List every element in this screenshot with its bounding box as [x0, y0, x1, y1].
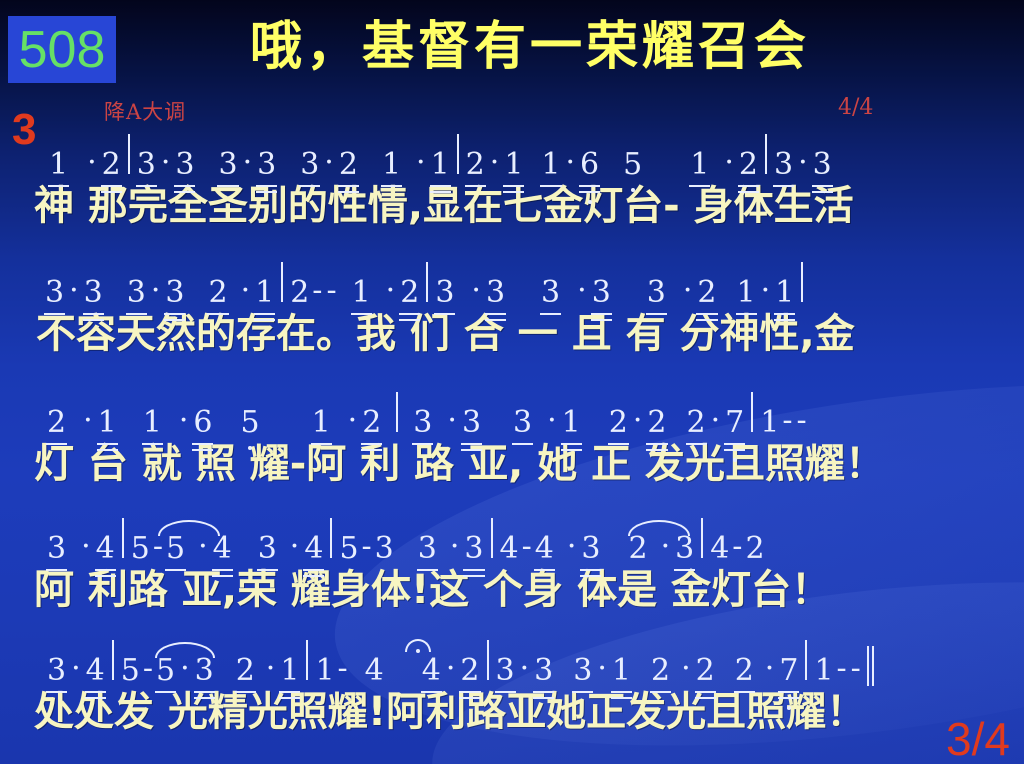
lyrics-row-3: 灯 台 就 照 耀-阿 利 路 亚, 她 正 发光且照耀！: [0, 438, 1024, 490]
note: 3: [572, 656, 593, 686]
note: 1: [813, 656, 834, 686]
key-signature-label: 降A大调: [104, 96, 186, 126]
duration-dash: -: [794, 403, 808, 438]
note: 5: [155, 656, 176, 686]
note: 3: [646, 278, 667, 308]
lyrics-row-5: 处处发 光精光照耀!阿利路亚她正发光且照耀！: [0, 686, 1024, 738]
rhythm-dot: ·: [467, 273, 485, 308]
rhythm-dot: ·: [486, 145, 504, 180]
fermata-icon: [405, 639, 431, 652]
notation-row-4: 3 · 4 5 - 5 · 4 3 · 4 5 - 3 3 · 3 4 - 4 …: [0, 518, 1024, 564]
barline: [801, 262, 803, 302]
note: 1: [314, 656, 335, 686]
barline: [765, 134, 767, 174]
note-low-octave: 7: [724, 408, 745, 438]
note: 1: [381, 150, 402, 180]
note: 3: [417, 534, 438, 564]
barline: [306, 640, 308, 680]
note: 4: [303, 534, 324, 564]
rhythm-dot: ·: [516, 651, 534, 686]
barline: [487, 640, 489, 680]
rhythm-dot: ·: [562, 145, 580, 180]
barline: [122, 518, 124, 558]
rhythm-dot: ·: [286, 529, 304, 564]
note: 1: [736, 278, 757, 308]
tie-dash: -: [141, 651, 155, 686]
rhythm-dot: ·: [147, 273, 165, 308]
note: 1: [279, 656, 300, 686]
music-system-1: 1 · 2 3 · 3 3 · 3 3 · 2 1 · 1 2 · 1 1 ·: [0, 134, 1024, 232]
barline: [805, 640, 807, 680]
barline: [281, 262, 283, 302]
note: 2: [744, 534, 765, 564]
rhythm-dot: ·: [262, 651, 280, 686]
note: 3: [44, 278, 65, 308]
note: 3: [217, 150, 238, 180]
note: 2: [338, 150, 359, 180]
rhythm-dot: ·: [237, 273, 255, 308]
duration-dash: -: [324, 273, 338, 308]
rhythm-dot: ·: [443, 403, 461, 438]
note: 3: [773, 150, 794, 180]
note: 2: [686, 408, 707, 438]
notation-row-1: 1 · 2 3 · 3 3 · 3 3 · 2 1 · 1 2 · 1 1 ·: [0, 134, 1024, 180]
rhythm-dot: ·: [65, 273, 83, 308]
lyrics-row-2: 不容天然的存在。我 们 合 一 且 有 分神性,金: [0, 308, 1024, 360]
note: 2: [627, 534, 648, 564]
note: 3: [485, 278, 506, 308]
rhythm-dot: ·: [412, 145, 430, 180]
music-system-4: 3 · 4 5 - 5 · 4 3 · 4 5 - 3 3 · 3 4 - 4 …: [0, 518, 1024, 616]
note: 2: [608, 408, 629, 438]
music-system-3: 2 · 1 1 · 6 5 1 · 2 3 · 3 3 · 1 2 · 2: [0, 392, 1024, 490]
note: 3: [512, 408, 533, 438]
final-double-barline: [867, 646, 875, 686]
notation-row-2: 3 · 3 3 · 3 2 · 1 2 - - 1 · 2 3 · 3 3 ·: [0, 262, 1024, 308]
note: 3: [126, 278, 147, 308]
duration-dash: -: [360, 529, 374, 564]
rhythm-dot: ·: [157, 145, 175, 180]
note: 3: [256, 150, 277, 180]
note: 2: [46, 408, 67, 438]
note: 2: [734, 656, 755, 686]
duration-dash: -: [730, 529, 744, 564]
note: 3: [463, 534, 484, 564]
note: 1: [561, 408, 582, 438]
note: 4: [499, 534, 520, 564]
rhythm-dot: ·: [761, 651, 779, 686]
lyrics-row-4: 阿 利路 亚,荣 耀身体!这 个身 体是 金灯台！: [0, 564, 1024, 616]
note: 1: [540, 150, 561, 180]
note: 1: [774, 278, 795, 308]
note: 1: [48, 150, 69, 180]
rhythm-dot: ·: [77, 529, 95, 564]
note: 5: [120, 656, 141, 686]
note: 3: [257, 534, 278, 564]
rhythm-dot: ·: [563, 529, 581, 564]
duration-dash: -: [835, 651, 849, 686]
rhythm-dot: ·: [679, 273, 697, 308]
note: 1: [611, 656, 632, 686]
note: 1: [430, 150, 451, 180]
duration-dash: -: [780, 403, 794, 438]
notation-row-3: 2 · 1 1 · 6 5 1 · 2 3 · 3 3 · 1 2 · 2: [0, 392, 1024, 438]
rhythm-dot: ·: [382, 273, 400, 308]
lyrics-row-1: 神 那完全圣别的性情,显在七金灯台- 身体生活: [0, 180, 1024, 232]
duration-dash: -: [310, 273, 324, 308]
hymn-slide: 508 哦，基督有一荣耀召会 降A大调 4/4 3 3/4 1 · 2 3 · …: [0, 0, 1024, 764]
rhythm-dot: ·: [593, 651, 611, 686]
note: 2: [465, 150, 486, 180]
note: 1: [351, 278, 372, 308]
tie-dash: -: [520, 529, 534, 564]
note: 1: [759, 408, 780, 438]
barline: [426, 262, 428, 302]
note: 2: [459, 656, 480, 686]
note: 5: [130, 534, 151, 564]
note-low-octave: 7: [778, 656, 799, 686]
note: 3: [299, 150, 320, 180]
rhythm-dot: ·: [757, 273, 775, 308]
hymn-number: 508: [19, 24, 106, 76]
rhythm-dot: ·: [720, 145, 738, 180]
barline: [701, 518, 703, 558]
note: 4: [534, 534, 555, 564]
note: 2: [646, 408, 667, 438]
note: 1: [503, 150, 524, 180]
note: 3: [812, 150, 833, 180]
note: 3: [136, 150, 157, 180]
note: 3: [533, 656, 554, 686]
note: 4: [709, 534, 730, 564]
time-signature-label: 4/4: [838, 95, 873, 120]
note: 3: [674, 534, 695, 564]
note: 4: [95, 534, 116, 564]
rhythm-dot: ·: [794, 145, 812, 180]
note: 3: [374, 534, 395, 564]
rhythm-dot: ·: [175, 403, 193, 438]
note-low-octave: 5: [622, 150, 643, 180]
rhythm-dot: ·: [320, 145, 338, 180]
note: 3: [495, 656, 516, 686]
note: 5: [338, 534, 359, 564]
note: 2: [696, 278, 717, 308]
rhythm-dot: ·: [83, 145, 101, 180]
note: 3: [46, 534, 67, 564]
rhythm-dot: ·: [67, 651, 85, 686]
note-low-octave: 6: [192, 408, 213, 438]
music-system-5: 3 · 4 5 - 5 · 3 2 · 1 1 - 4 4 · 2 3 · 3: [0, 640, 1024, 738]
note: 1: [142, 408, 163, 438]
note: 1: [311, 408, 332, 438]
note: 2: [235, 656, 256, 686]
note: 2: [207, 278, 228, 308]
note: 2: [399, 278, 420, 308]
rhythm-dot: ·: [446, 529, 464, 564]
page-title: 哦，基督有一荣耀召会: [150, 20, 910, 75]
barline: [128, 134, 130, 174]
note: 1: [689, 150, 710, 180]
rhythm-dot: ·: [677, 651, 695, 686]
rhythm-dot: ·: [543, 403, 561, 438]
note: 3: [461, 408, 482, 438]
rhythm-dot: ·: [344, 403, 362, 438]
note: 4: [364, 656, 385, 686]
rhythm-dot: ·: [442, 651, 460, 686]
barline: [330, 518, 332, 558]
note: 1: [254, 278, 275, 308]
note: 2: [101, 150, 122, 180]
note: 2: [738, 150, 759, 180]
note-low-octave: 5: [239, 408, 260, 438]
barline: [457, 134, 459, 174]
rhythm-dot: ·: [79, 403, 97, 438]
notation-row-5: 3 · 4 5 - 5 · 3 2 · 1 1 - 4 4 · 2 3 · 3: [0, 640, 1024, 686]
hymn-number-badge: 508: [8, 16, 116, 83]
barline: [751, 392, 753, 432]
note: 3: [434, 278, 455, 308]
note-low-octave: 6: [579, 150, 600, 180]
note: 2: [695, 656, 716, 686]
note: 1: [97, 408, 118, 438]
note: 2: [361, 408, 382, 438]
note: 4: [212, 534, 233, 564]
note: 4: [421, 656, 442, 686]
barline: [396, 392, 398, 432]
music-system-2: 3 · 3 3 · 3 2 · 1 2 - - 1 · 2 3 · 3 3 ·: [0, 262, 1024, 360]
rhythm-dot: ·: [629, 403, 647, 438]
note: 3: [46, 656, 67, 686]
rhythm-dot: ·: [239, 145, 257, 180]
note: 3: [580, 534, 601, 564]
duration-dash: -: [849, 651, 863, 686]
rhythm-dot: ·: [573, 273, 591, 308]
duration-dash: -: [336, 651, 350, 686]
note: 3: [591, 278, 612, 308]
note: 2: [650, 656, 671, 686]
note: 3: [83, 278, 104, 308]
note: 4: [85, 656, 106, 686]
note: 3: [412, 408, 433, 438]
barline: [491, 518, 493, 558]
note: 3: [164, 278, 185, 308]
barline: [112, 640, 114, 680]
note: 3: [540, 278, 561, 308]
note: 3: [194, 656, 215, 686]
note: 3: [174, 150, 195, 180]
rhythm-dot: ·: [707, 403, 725, 438]
note: 2: [289, 278, 310, 308]
note: 5: [165, 534, 186, 564]
